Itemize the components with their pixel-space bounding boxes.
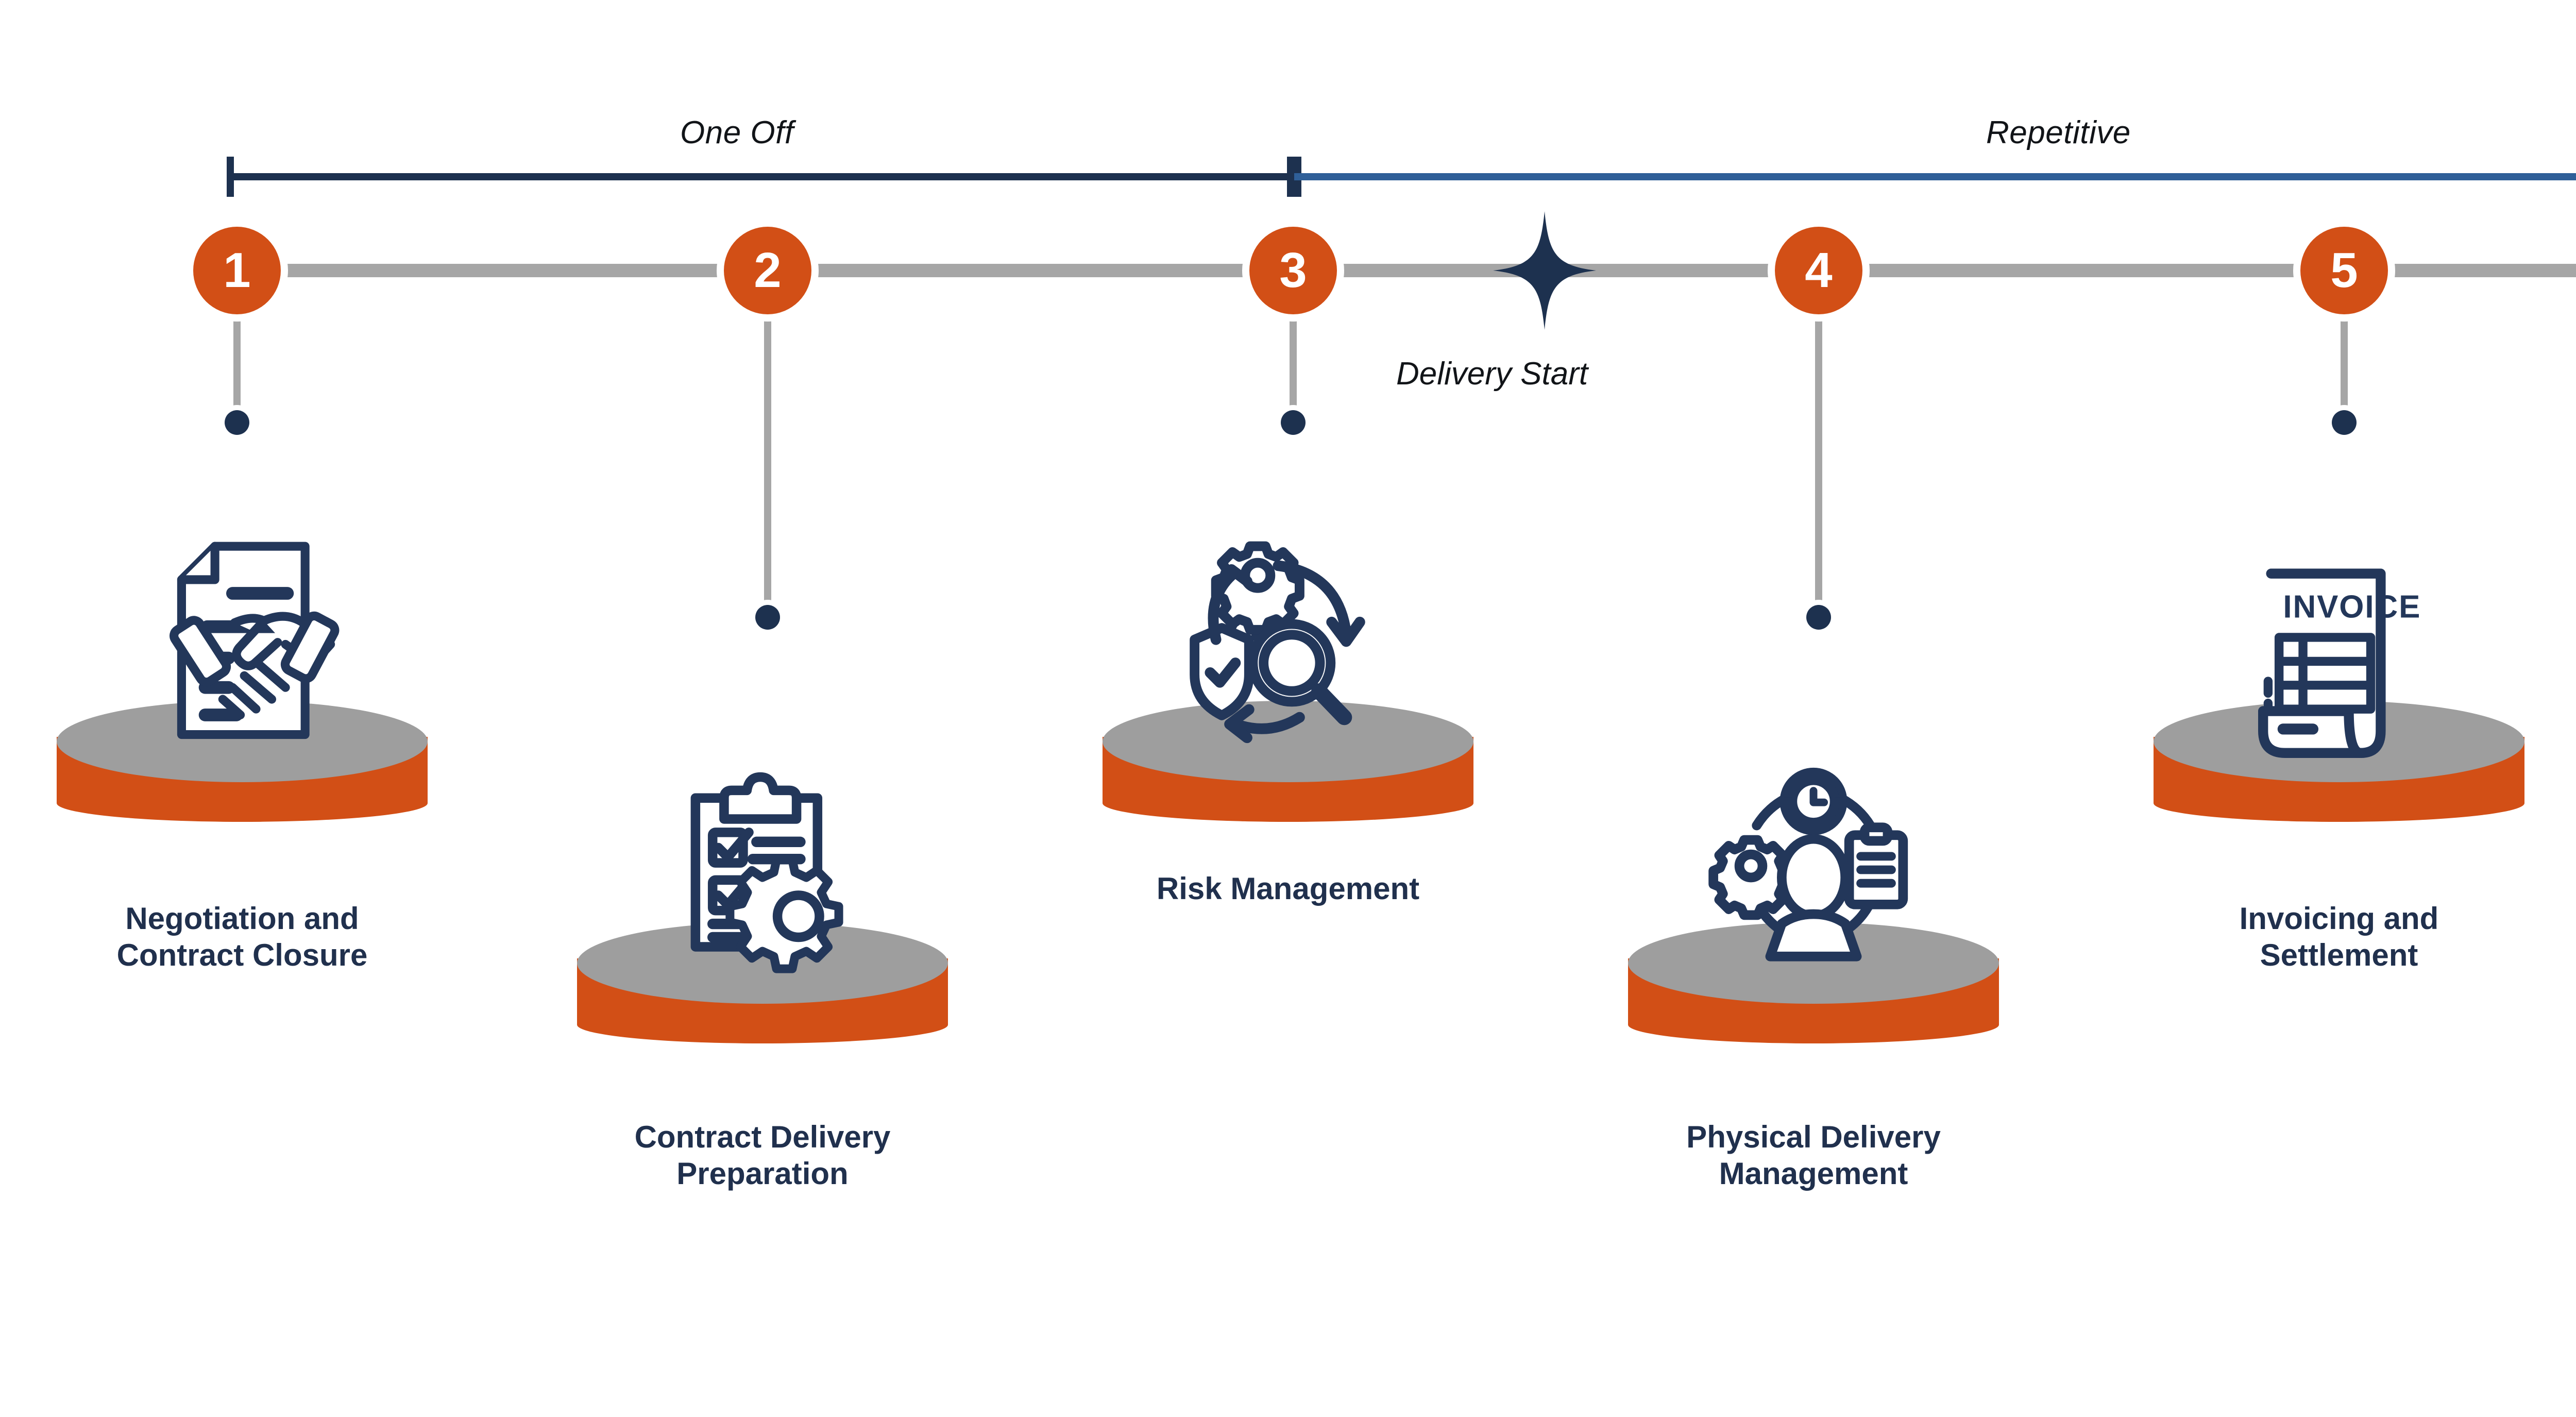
step-caption-1: Negotiation and Contract Closure xyxy=(0,901,484,974)
caption-line-1: Physical Delivery xyxy=(1571,1119,2056,1156)
bracket-cap-right xyxy=(1287,157,1294,197)
delivery-start-label: Delivery Start xyxy=(1396,356,1588,392)
connector-dot-4 xyxy=(1806,605,1831,630)
step-number: 2 xyxy=(754,246,781,295)
step-caption-2: Contract Delivery Preparation xyxy=(520,1119,1005,1192)
step-number: 1 xyxy=(223,246,250,295)
contract-handshake-icon xyxy=(138,538,354,760)
person-clock-gear-clipboard-icon xyxy=(1710,777,1917,970)
caption-line-1: Negotiation and xyxy=(0,901,484,937)
delivery-start-sparkle-icon xyxy=(1493,211,1596,332)
process-timeline-diagram: One Off Repetitive 1 2 3 4 5 6 Delivery … xyxy=(0,0,2576,1417)
step-node-1[interactable]: 1 xyxy=(193,227,281,314)
step-caption-3: Risk Management xyxy=(1046,871,1530,907)
phase-label-one-off: One Off xyxy=(680,114,794,151)
connector-stem-3 xyxy=(1290,313,1297,424)
caption-line-2: Preparation xyxy=(520,1156,1005,1192)
step-node-3[interactable]: 3 xyxy=(1249,227,1337,314)
timeline-rail-segment-5-6 xyxy=(2370,264,2576,277)
invoice-heading-text: INVOICE xyxy=(2283,589,2421,625)
phase-label-repetitive: Repetitive xyxy=(1986,114,2131,151)
connector-dot-3 xyxy=(1281,410,1306,435)
connector-dot-2 xyxy=(755,605,780,630)
caption-line-2: Settlement xyxy=(2097,937,2576,974)
connector-dot-5 xyxy=(2332,410,2357,435)
step-node-4[interactable]: 4 xyxy=(1775,227,1862,314)
risk-shield-magnifier-icon xyxy=(1173,538,1399,745)
timeline-rail-segment-4-5 xyxy=(1844,264,2318,277)
step-number: 4 xyxy=(1805,246,1832,295)
clipboard-gear-icon xyxy=(665,777,866,975)
caption-line-1: Risk Management xyxy=(1046,871,1530,907)
bracket-bar xyxy=(1294,173,2576,180)
caption-line-1: Contract Delivery xyxy=(520,1119,1005,1156)
timeline-rail-segment-2-3 xyxy=(793,264,1267,277)
caption-line-2: Contract Closure xyxy=(0,937,484,974)
step-number: 3 xyxy=(1279,246,1307,295)
step-node-2[interactable]: 2 xyxy=(724,227,811,314)
connector-stem-2 xyxy=(764,313,771,617)
invoice-receipt-icon: INVOICE xyxy=(2249,562,2419,773)
connector-stem-4 xyxy=(1815,313,1822,617)
bracket-bar xyxy=(227,173,1294,180)
timeline-rail-segment-1-2 xyxy=(278,264,742,277)
connector-stem-1 xyxy=(233,313,241,424)
connector-dot-1 xyxy=(225,410,249,435)
caption-line-2: Management xyxy=(1571,1156,2056,1192)
step-number: 5 xyxy=(2330,246,2358,295)
step-caption-4: Physical Delivery Management xyxy=(1571,1119,2056,1192)
step-node-5[interactable]: 5 xyxy=(2300,227,2388,314)
connector-stem-5 xyxy=(2341,313,2348,424)
caption-line-1: Invoicing and xyxy=(2097,901,2576,937)
step-caption-5: Invoicing and Settlement xyxy=(2097,901,2576,974)
